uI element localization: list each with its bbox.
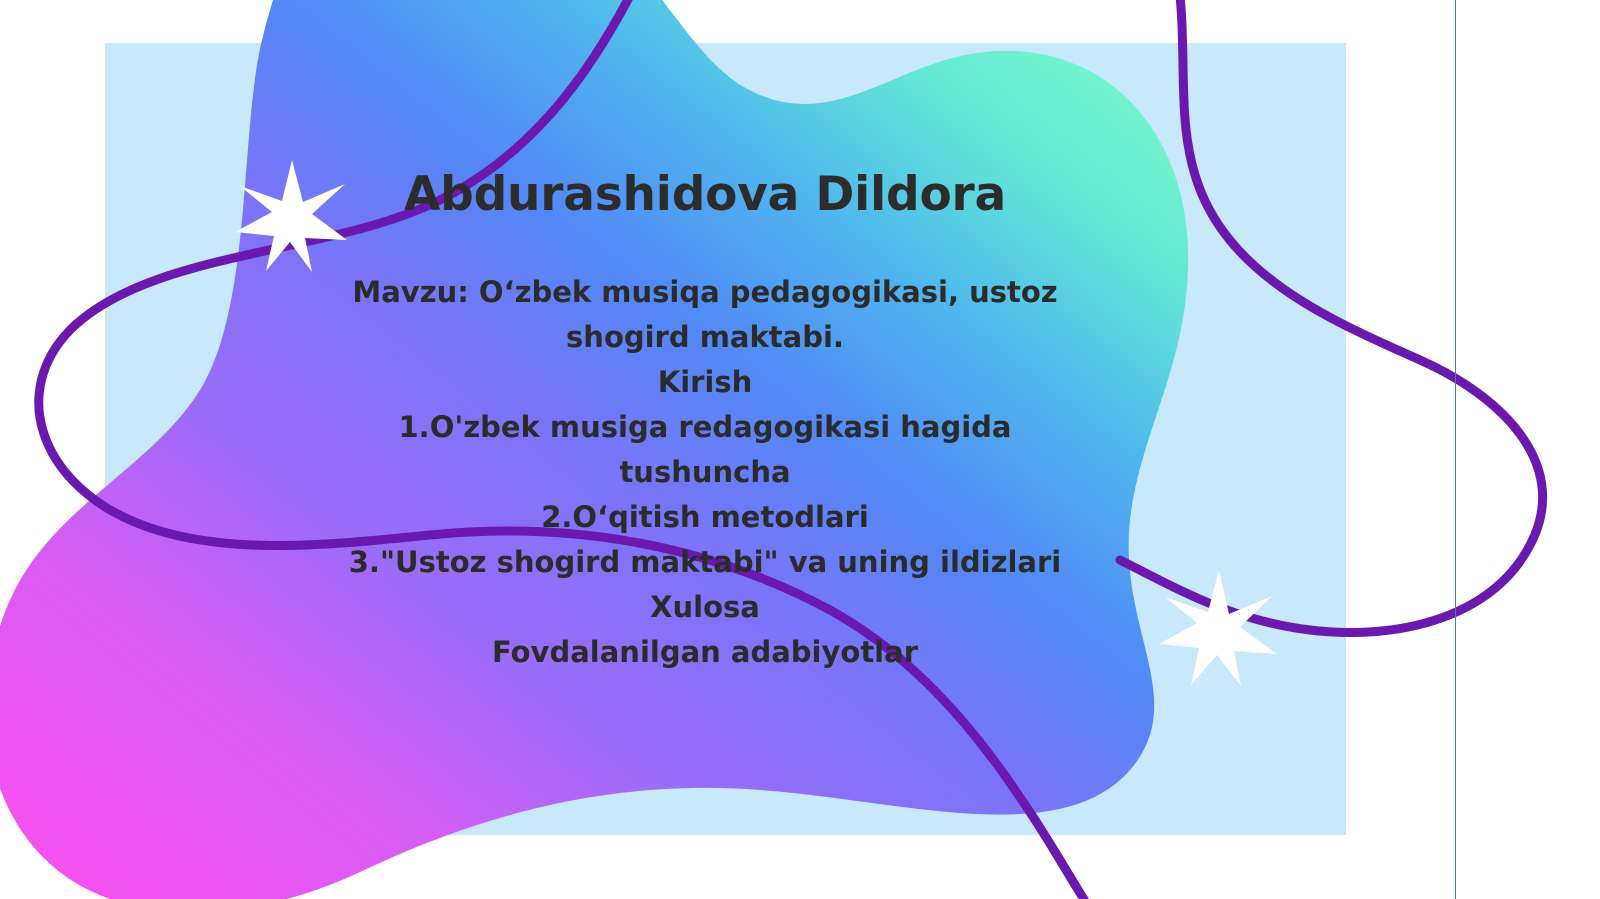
body-line: 2.O‘qitish metodlari <box>210 495 1200 540</box>
body-line: 1.O'zbek musiga redagogikasi hagida <box>210 405 1200 450</box>
body-line: Xulosa <box>210 585 1200 630</box>
body-line: Fovdalanilgan adabiyotlar <box>210 630 1200 675</box>
slide-body-list: Mavzu: O‘zbek musiqa pedagogikasi, ustoz… <box>210 270 1200 675</box>
body-line: tushuncha <box>210 450 1200 495</box>
slide-content: Abdurashidova Dildora Mavzu: O‘zbek musi… <box>210 168 1200 675</box>
slide-canvas: Abdurashidova Dildora Mavzu: O‘zbek musi… <box>0 0 1600 899</box>
page-title: Abdurashidova Dildora <box>210 168 1200 222</box>
page-edge-line <box>1455 0 1456 899</box>
body-line: Kirish <box>210 360 1200 405</box>
body-line: 3."Ustoz shogird maktabi" va uning ildiz… <box>210 540 1200 585</box>
body-line: shogird maktabi. <box>210 315 1200 360</box>
body-line: Mavzu: O‘zbek musiqa pedagogikasi, ustoz <box>210 270 1200 315</box>
